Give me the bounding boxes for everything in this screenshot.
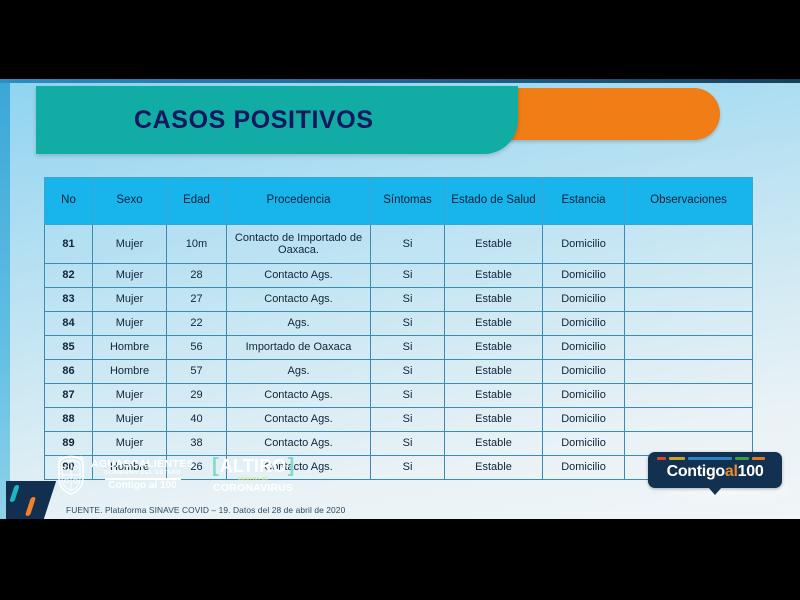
cell-estado-salud: Estable [445,432,543,456]
cell-no: 87 [45,384,93,408]
cell-estado-salud: Estable [445,384,543,408]
screenshot-canvas: CASOS POSITIVOS No Sexo Edad Procedencia [0,0,800,600]
cell-estancia: Domicilio [543,384,625,408]
cell-estado-salud: Estable [445,225,543,264]
page-title: CASOS POSITIVOS [134,106,374,135]
cell-estancia: Domicilio [543,225,625,264]
cell-edad: 27 [167,288,227,312]
badge-color-bar [669,457,685,460]
badge-color-bars [657,457,765,460]
government-name: AGUASCALIENTES [91,459,194,470]
cell-estado-salud: Estable [445,288,543,312]
table-row: 87Mujer29Contacto Ags.SiEstableDomicilio [45,384,753,408]
cell-procedencia: Ags. [227,312,371,336]
cell-sintomas: Si [371,408,445,432]
column-header-estancia: Estancia [543,178,625,225]
cell-procedencia: Contacto Ags. [227,384,371,408]
column-header-observaciones: Observaciones [625,178,753,225]
cell-estancia: Domicilio [543,336,625,360]
table-row: 81Mujer10mContacto de Importado de Oaxac… [45,225,753,264]
positive-cases-table: No Sexo Edad Procedencia Síntomas Estado… [44,177,753,480]
cell-procedencia: Contacto Ags. [227,408,371,432]
header-teal-banner: CASOS POSITIVOS [36,86,518,154]
table-row: 88Mujer40Contacto Ags.SiEstableDomicilio [45,408,753,432]
cell-sexo: Mujer [93,384,167,408]
cell-sintomas: Si [371,384,445,408]
cell-observaciones [625,384,753,408]
footer-logo-row: AGUASCALIENTES GOBIERNO DEL ESTADO Conti… [56,452,294,498]
table-row: 84Mujer22Ags.SiEstableDomicilio [45,312,753,336]
altiro-campaign-logo: [ ALTIRO ] CONTRA EL CORONAVIRUS [212,456,294,493]
badge-color-bar [657,457,666,460]
cell-sintomas: Si [371,360,445,384]
cell-observaciones [625,312,753,336]
cell-no: 88 [45,408,93,432]
government-wordmark: AGUASCALIENTES GOBIERNO DEL ESTADO Conti… [91,459,194,492]
government-subtitle: GOBIERNO DEL ESTADO [104,469,181,477]
cell-procedencia: Importado de Oaxaca [227,336,371,360]
cell-estancia: Domicilio [543,264,625,288]
government-tagline: Contigo al 100 [108,481,176,491]
cell-no: 81 [45,225,93,264]
cell-estado-salud: Estable [445,456,543,480]
cell-sexo: Mujer [93,408,167,432]
cell-estancia: Domicilio [543,432,625,456]
contigo-al-100-badge: Contigoal100 [648,452,782,488]
badge-color-bar [752,457,765,460]
column-header-sexo: Sexo [93,178,167,225]
badge-color-bar [735,457,749,460]
cell-sexo: Mujer [93,288,167,312]
table-row: 83Mujer27Contacto Ags.SiEstableDomicilio [45,288,753,312]
cell-estado-salud: Estable [445,312,543,336]
cell-estancia: Domicilio [543,360,625,384]
cell-observaciones [625,336,753,360]
table-header-row: No Sexo Edad Procedencia Síntomas Estado… [45,178,753,225]
badge-label-mid: al [725,463,738,480]
badge-label-suffix: 100 [738,463,764,480]
cell-observaciones [625,225,753,264]
cell-edad: 40 [167,408,227,432]
altiro-wordmark: [ ALTIRO ] [212,456,294,476]
cell-sintomas: Si [371,336,445,360]
cell-procedencia: Contacto de Importado de Oaxaca. [227,225,371,264]
cell-procedencia: Contacto Ags. [227,264,371,288]
column-header-edad: Edad [167,178,227,225]
cell-no: 83 [45,288,93,312]
table-row: 86Hombre57Ags.SiEstableDomicilio [45,360,753,384]
table-body: 81Mujer10mContacto de Importado de Oaxac… [45,225,753,480]
cell-sintomas: Si [371,288,445,312]
cell-sexo: Mujer [93,225,167,264]
cell-sintomas: Si [371,432,445,456]
cell-estancia: Domicilio [543,456,625,480]
column-header-procedencia: Procedencia [227,178,371,225]
cell-no: 85 [45,336,93,360]
cell-estado-salud: Estable [445,264,543,288]
column-header-no: No [45,178,93,225]
badge-label-prefix: Contigo [667,463,725,480]
table-row: 85Hombre56Importado de OaxacaSiEstableDo… [45,336,753,360]
aguascalientes-coat-of-arms-icon [56,454,86,496]
slide-left-accent-bar [0,83,10,519]
cell-sintomas: Si [371,264,445,288]
column-header-sintomas: Síntomas [371,178,445,225]
altiro-word: ALTIRO [220,457,287,475]
cell-observaciones [625,264,753,288]
cell-procedencia: Contacto Ags. [227,288,371,312]
cell-observaciones [625,288,753,312]
cell-estado-salud: Estable [445,408,543,432]
table-row: 82Mujer28Contacto Ags.SiEstableDomicilio [45,264,753,288]
cell-sintomas: Si [371,456,445,480]
source-footnote: FUENTE. Plataforma SINAVE COVID – 19. Da… [66,505,345,515]
cases-table-container: No Sexo Edad Procedencia Síntomas Estado… [44,177,752,480]
cell-edad: 57 [167,360,227,384]
cell-observaciones [625,408,753,432]
table-header: No Sexo Edad Procedencia Síntomas Estado… [45,178,753,225]
cell-sexo: Mujer [93,264,167,288]
cell-edad: 10m [167,225,227,264]
cell-estado-salud: Estable [445,336,543,360]
cell-sintomas: Si [371,225,445,264]
badge-color-bar [688,457,732,460]
bracket-right-icon: ] [288,456,295,476]
cell-procedencia: Ags. [227,360,371,384]
cell-sintomas: Si [371,312,445,336]
column-header-estado-salud: Estado de Salud [445,178,543,225]
cell-sexo: Hombre [93,360,167,384]
slide-top-accent-strip [0,79,800,83]
cell-estancia: Domicilio [543,288,625,312]
cell-sexo: Mujer [93,312,167,336]
cell-edad: 28 [167,264,227,288]
cell-estancia: Domicilio [543,408,625,432]
cell-observaciones [625,360,753,384]
cell-no: 86 [45,360,93,384]
cell-estancia: Domicilio [543,312,625,336]
cell-edad: 22 [167,312,227,336]
cell-edad: 56 [167,336,227,360]
altiro-subtitle: CORONAVIRUS [213,483,293,494]
cell-sexo: Hombre [93,336,167,360]
bracket-left-icon: [ [212,456,219,476]
badge-label: Contigoal100 [648,463,782,481]
cell-no: 84 [45,312,93,336]
cell-edad: 29 [167,384,227,408]
cell-estado-salud: Estable [445,360,543,384]
cell-no: 82 [45,264,93,288]
